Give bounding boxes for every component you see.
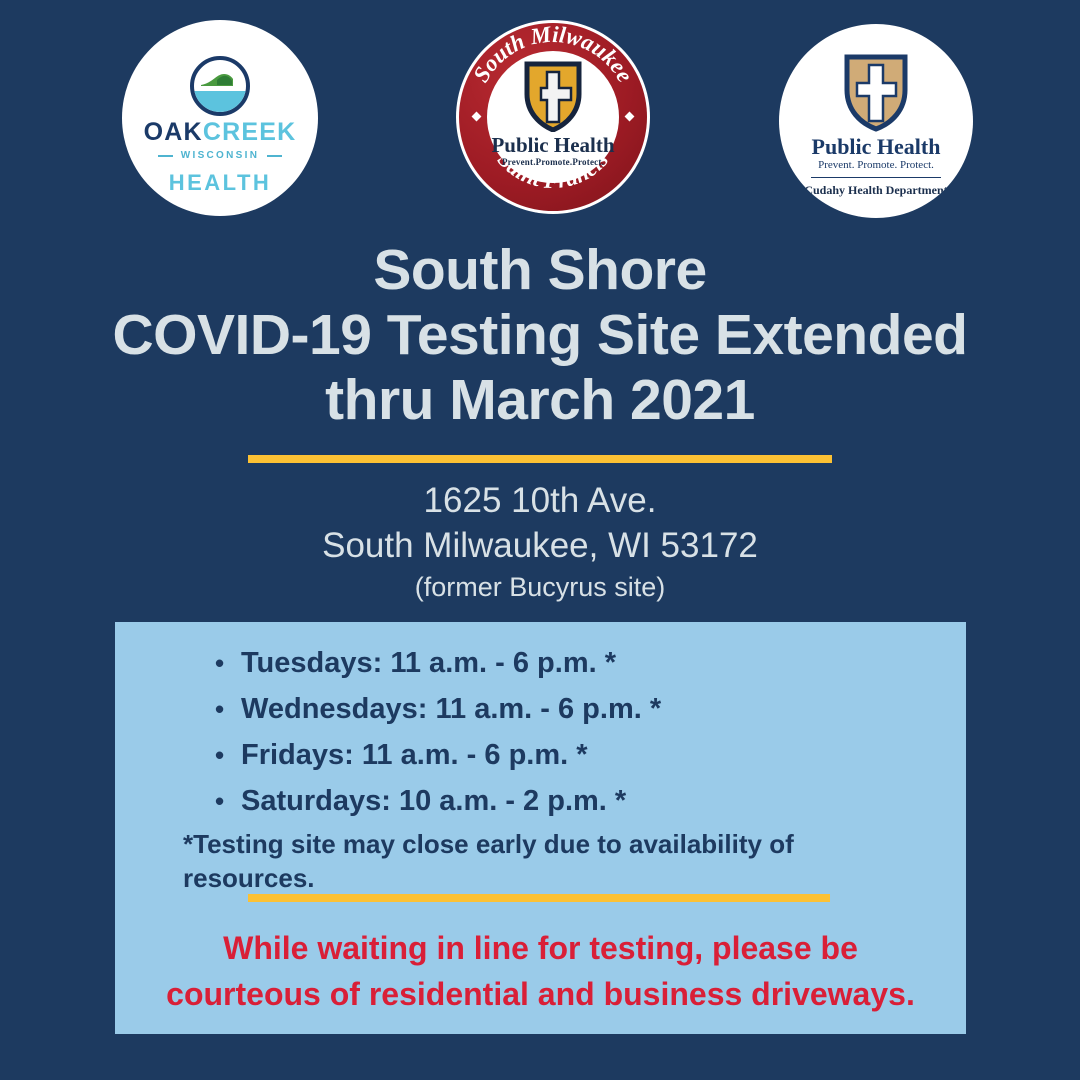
divider-bottom	[248, 894, 830, 902]
courtesy-warning: While waiting in line for testing, pleas…	[135, 925, 946, 1017]
cudahy-department-text: Cudahy Health Department	[779, 184, 973, 196]
courtesy-warning-line-1: While waiting in line for testing, pleas…	[135, 925, 946, 971]
oak-creek-health-text: HEALTH	[122, 172, 318, 194]
cudahy-public-health-text: Public Health	[779, 136, 973, 158]
cudahy-shield-cross-icon	[843, 52, 909, 132]
logo-row: OAKCREEK WISCONSIN HEALTH South Milwauke…	[0, 0, 1080, 228]
oak-creek-health-logo: OAKCREEK WISCONSIN HEALTH	[122, 20, 318, 216]
south-milwaukee-public-health-text: Public Health	[456, 135, 650, 156]
oak-creek-creek-text: CREEK	[203, 118, 297, 146]
oak-creek-emblem-icon	[190, 56, 250, 116]
address-block: 1625 10th Ave. South Milwaukee, WI 53172…	[0, 478, 1080, 606]
hours-footnote: *Testing site may close early due to ava…	[183, 827, 823, 895]
address-line-2: South Milwaukee, WI 53172	[0, 523, 1080, 568]
divider-top	[248, 455, 832, 463]
oak-creek-tree-icon	[201, 73, 233, 87]
oak-creek-water-shape	[194, 91, 246, 112]
courtesy-warning-line-2: courteous of residential and business dr…	[135, 971, 946, 1017]
address-line-1: 1625 10th Ave.	[0, 478, 1080, 523]
list-item: Saturdays: 10 a.m. - 2 p.m. *	[115, 778, 966, 824]
address-note: (former Bucyrus site)	[0, 568, 1080, 606]
page-title-line-3: thru March 2021	[0, 368, 1080, 433]
info-panel: Tuesdays: 11 a.m. - 6 p.m. * Wednesdays:…	[115, 622, 966, 1034]
cudahy-health-department-logo: Public Health Prevent. Promote. Protect.…	[779, 24, 973, 218]
hours-list: Tuesdays: 11 a.m. - 6 p.m. * Wednesdays:…	[115, 640, 966, 824]
south-milwaukee-shield-cross-icon	[523, 58, 583, 132]
list-item: Tuesdays: 11 a.m. - 6 p.m. *	[115, 640, 966, 686]
oak-creek-oak-text: OAK	[144, 118, 203, 146]
cudahy-tagline-text: Prevent. Promote. Protect.	[779, 160, 973, 171]
oak-creek-state-text: WISCONSIN	[122, 151, 318, 161]
list-item: Fridays: 11 a.m. - 6 p.m. *	[115, 732, 966, 778]
cudahy-divider	[811, 177, 941, 178]
page-title: South Shore COVID-19 Testing Site Extend…	[0, 238, 1080, 433]
list-item: Wednesdays: 11 a.m. - 6 p.m. *	[115, 686, 966, 732]
page-title-line-1: South Shore	[0, 238, 1080, 303]
south-milwaukee-saint-francis-public-health-logo: South Milwaukee Saint Francis Public Hea…	[456, 20, 650, 214]
oak-creek-wordmark: OAKCREEK	[122, 120, 318, 145]
south-milwaukee-tagline-text: Prevent.Promote.Protect.	[456, 158, 650, 167]
page-title-line-2: COVID-19 Testing Site Extended	[0, 303, 1080, 368]
